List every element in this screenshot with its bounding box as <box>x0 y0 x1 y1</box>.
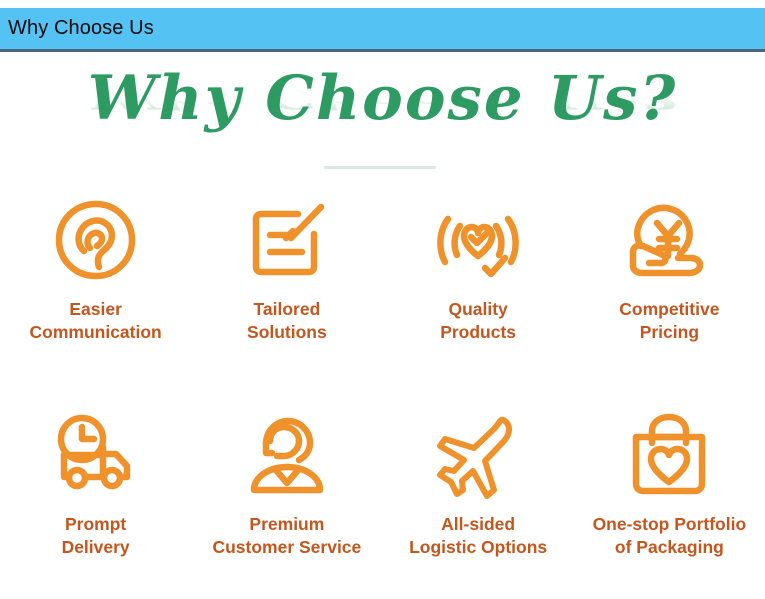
feature-item-one-stop-portfolio-of-packaging[interactable]: One-stop Portfolio of Packaging <box>574 402 765 562</box>
shopping-bag-heart-icon <box>623 402 715 507</box>
ear-in-circle-icon <box>50 187 142 292</box>
feature-label: Competitive Pricing <box>619 298 719 344</box>
feature-label: Tailored Solutions <box>247 298 327 344</box>
page-content: Why Choose Us? Why Choose Us? Easier Com… <box>0 55 765 599</box>
feature-item-prompt-delivery[interactable]: Prompt Delivery <box>0 402 191 562</box>
feature-grid: Easier Communication Tailored Solutions <box>0 187 765 562</box>
feature-label: Quality Products <box>440 298 516 344</box>
headset-agent-icon <box>241 402 333 507</box>
airplane-icon <box>432 402 524 507</box>
document-pencil-icon <box>241 187 333 292</box>
feature-label: All-sided Logistic Options <box>409 513 547 559</box>
feature-item-all-sided-logistic-options[interactable]: All-sided Logistic Options <box>383 402 574 562</box>
page-title: Why Choose Us? <box>0 63 765 134</box>
feature-label: Prompt Delivery <box>62 513 130 559</box>
feature-label: One-stop Portfolio of Packaging <box>593 513 747 559</box>
hand-holding-yen-coin-icon <box>623 187 715 292</box>
window-title: Why Choose Us <box>0 17 154 40</box>
delivery-truck-clock-icon <box>50 402 142 507</box>
feature-item-tailored-solutions[interactable]: Tailored Solutions <box>191 187 382 347</box>
feature-item-premium-customer-service[interactable]: Premium Customer Service <box>191 402 382 562</box>
feature-item-competitive-pricing[interactable]: Competitive Pricing <box>574 187 765 347</box>
heart-check-signal-icon <box>432 187 524 292</box>
feature-label: Easier Communication <box>30 298 162 344</box>
title-divider <box>324 166 436 169</box>
hero-section: Why Choose Us? Why Choose Us? <box>0 63 765 168</box>
feature-item-easier-communication[interactable]: Easier Communication <box>0 187 191 347</box>
window-titlebar: Why Choose Us <box>0 8 765 52</box>
feature-label: Premium Customer Service <box>212 513 361 559</box>
feature-item-quality-products[interactable]: Quality Products <box>383 187 574 347</box>
